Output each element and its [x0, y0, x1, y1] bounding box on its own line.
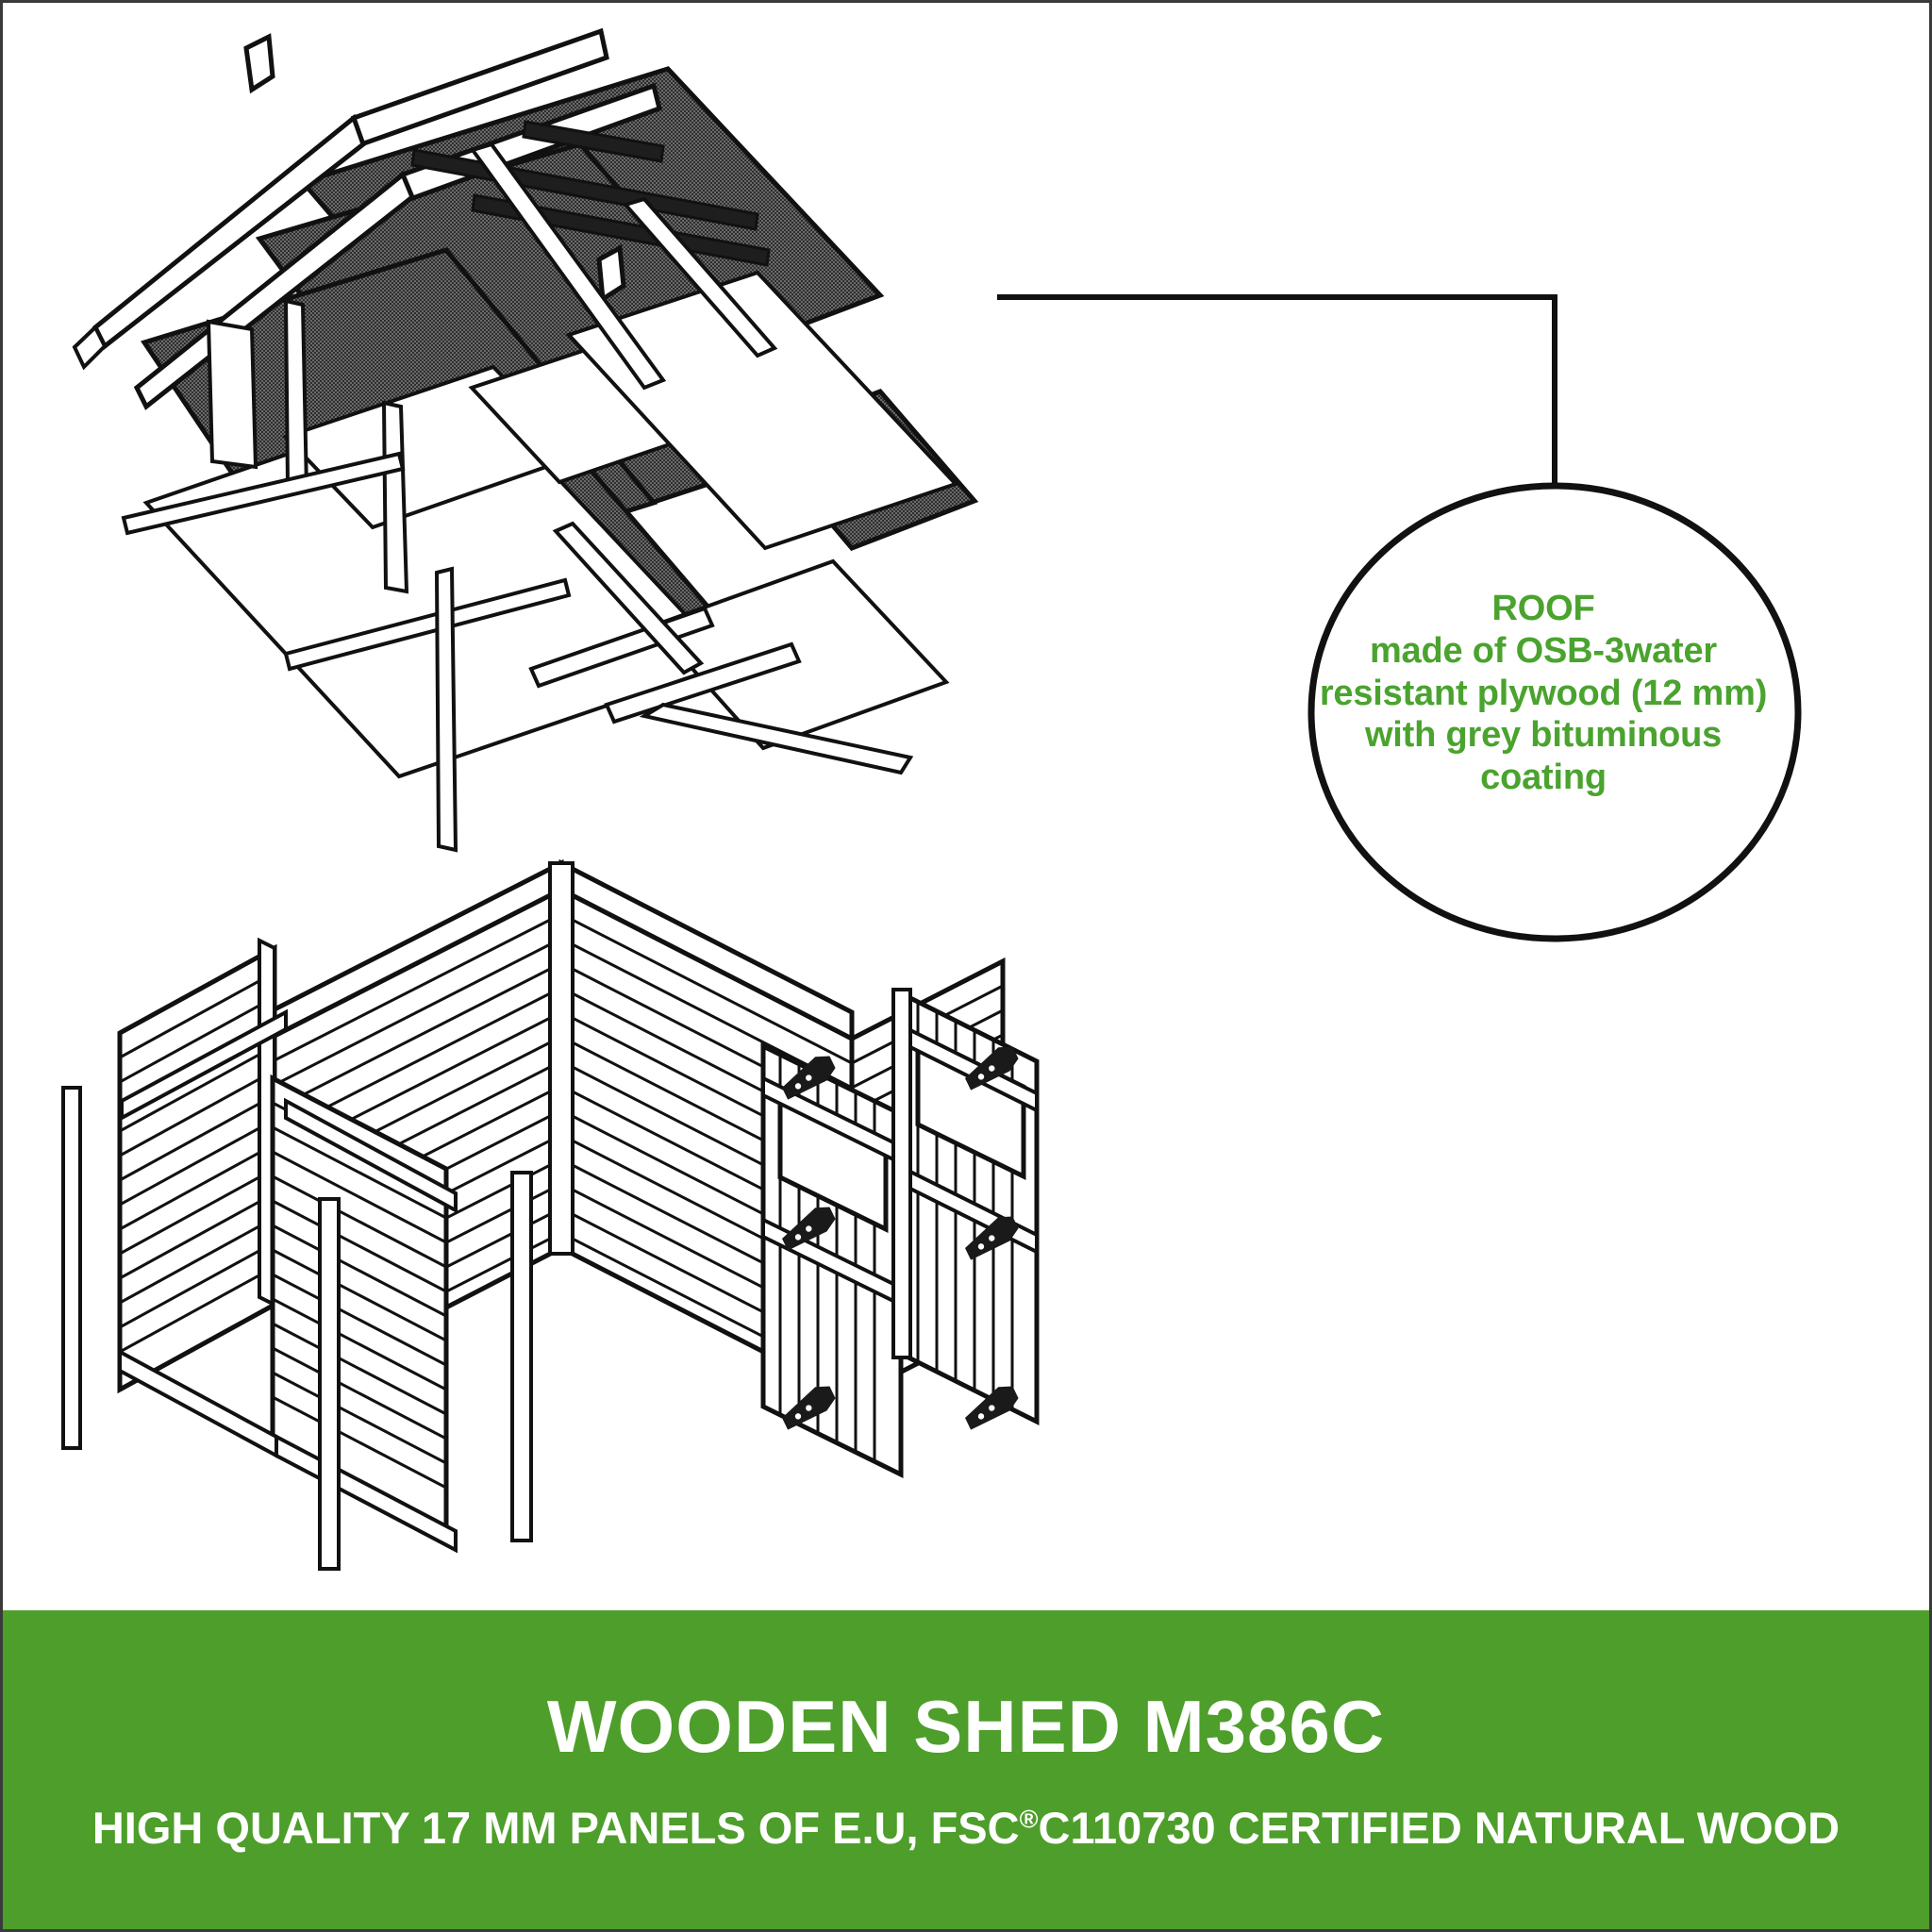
- barge-board-left-end: [75, 327, 105, 367]
- wall-panel-side-left: [120, 941, 275, 1390]
- corner-post-back: [550, 863, 573, 1254]
- loose-post-right: [512, 1173, 531, 1541]
- callout-leader: [997, 297, 1798, 939]
- leader-line: [997, 297, 1555, 486]
- product-banner: WOODEN SHED M386C HIGH QUALITY 17 MM PAN…: [3, 1610, 1929, 1929]
- loose-post-far-left: [63, 1088, 80, 1448]
- base-rail-left: [120, 1352, 276, 1456]
- banner-title: WOODEN SHED M386C: [547, 1687, 1385, 1768]
- banner-subtitle-before: HIGH QUALITY 17 MM PANELS OF E.U, FSC: [92, 1803, 1020, 1853]
- diagram-page: ROOF made of OSB-3water resistant plywoo…: [0, 0, 1932, 1932]
- loose-post-centre: [320, 1199, 339, 1569]
- exploded-assembly-drawing: [3, 3, 1929, 1610]
- batten-vertical-mid: [286, 301, 307, 490]
- door-centre-jamb: [893, 990, 910, 1357]
- batten-vertical-left: [208, 322, 256, 467]
- shed-drawing-svg: [3, 3, 1929, 1610]
- ridge-fixing-block: [246, 37, 273, 90]
- registered-mark-icon: ®: [1020, 1805, 1039, 1833]
- banner-subtitle: HIGH QUALITY 17 MM PANELS OF E.U, FSC®C1…: [92, 1804, 1840, 1853]
- banner-subtitle-after: C110730 CERTIFIED NATURAL WOOD: [1039, 1803, 1840, 1853]
- batten-vertical-right: [384, 403, 407, 591]
- callout-ellipse: [1311, 486, 1798, 939]
- king-post: [437, 569, 456, 850]
